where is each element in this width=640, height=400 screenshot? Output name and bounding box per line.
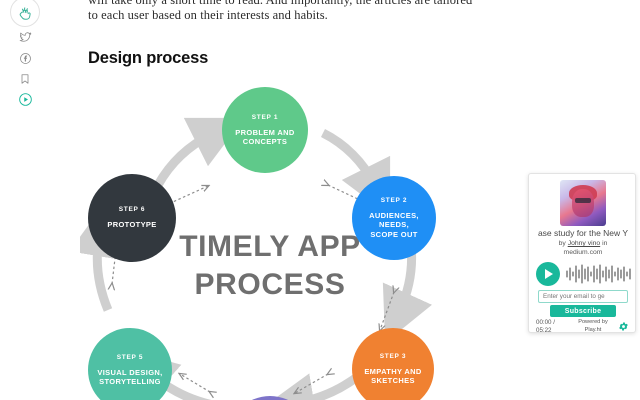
player-play-button[interactable] — [536, 262, 560, 286]
audio-player-widget: ase study for the New Y by Johny vino in… — [528, 173, 636, 333]
cover-art-glasses — [575, 198, 591, 203]
time-current: 00:00 / — [536, 319, 555, 327]
article-paragraph: will take only a short time to read. And… — [88, 0, 518, 23]
step-6-number: STEP 6 — [119, 206, 145, 213]
step-1-number: STEP 1 — [252, 114, 278, 121]
page-title: Design process — [88, 49, 208, 68]
diagram-node-step-2[interactable]: STEP 2 AUDIENCES, NEEDS,SCOPE OUT — [352, 176, 436, 260]
step-3-number: STEP 3 — [380, 353, 406, 360]
player-byline: by Johny vino in medium.com — [529, 240, 636, 257]
step-2-label: AUDIENCES, NEEDS,SCOPE OUT — [352, 211, 436, 240]
paragraph-line-1: will take only a short time to read. And… — [88, 0, 518, 8]
article-cover-art — [560, 180, 606, 226]
page-root: will take only a short time to read. And… — [0, 0, 640, 400]
email-input[interactable] — [538, 290, 628, 303]
player-settings-button[interactable] — [618, 319, 629, 333]
center-line-2: PROCESS — [80, 266, 460, 304]
playht-link[interactable]: Play.ht — [585, 327, 602, 333]
step-2-number: STEP 2 — [381, 197, 407, 204]
design-process-diagram: TIMELY APP PROCESS STEP 1 PROBLEM ANDCON… — [80, 78, 460, 400]
article-action-rail — [0, 0, 50, 400]
cover-art-face — [572, 189, 594, 217]
play-triangle-icon — [545, 269, 553, 279]
diagram-node-step-6[interactable]: STEP 6 PROTOTYPE — [88, 174, 176, 262]
step-3-label: EMPATHY ANDSKETCHES — [358, 367, 427, 386]
player-timestamp: 00:00 / 05:22 — [536, 319, 555, 333]
audio-waveform[interactable] — [565, 263, 631, 285]
time-total: 05:22 — [536, 327, 555, 334]
powered-prefix: Powered by — [578, 319, 608, 325]
diagram-node-step-1[interactable]: STEP 1 PROBLEM ANDCONCEPTS — [222, 87, 308, 173]
byline-suffix: in — [600, 240, 607, 247]
paragraph-line-2: to each user based on their interests an… — [88, 8, 518, 23]
audio-play-icon[interactable] — [12, 86, 38, 112]
diagram-node-step-3[interactable]: STEP 3 EMPATHY ANDSKETCHES — [352, 328, 434, 400]
step-5-label: VISUAL DESIGN,STORYTELLING — [91, 368, 168, 387]
author-link[interactable]: Johny vino — [568, 240, 601, 247]
clap-icon[interactable] — [10, 0, 40, 27]
step-1-label: PROBLEM ANDCONCEPTS — [229, 128, 300, 147]
byline-prefix: by — [559, 240, 568, 247]
player-track-title: ase study for the New Y — [529, 228, 636, 238]
player-source: medium.com — [564, 249, 603, 256]
gear-icon — [618, 321, 629, 332]
step-6-label: PROTOTYPE — [101, 220, 162, 230]
powered-by-label: Powered by Play.ht — [573, 319, 613, 333]
step-5-number: STEP 5 — [117, 354, 143, 361]
subscribe-button[interactable]: Subscribe — [550, 305, 616, 317]
article-body: will take only a short time to read. And… — [88, 0, 518, 23]
